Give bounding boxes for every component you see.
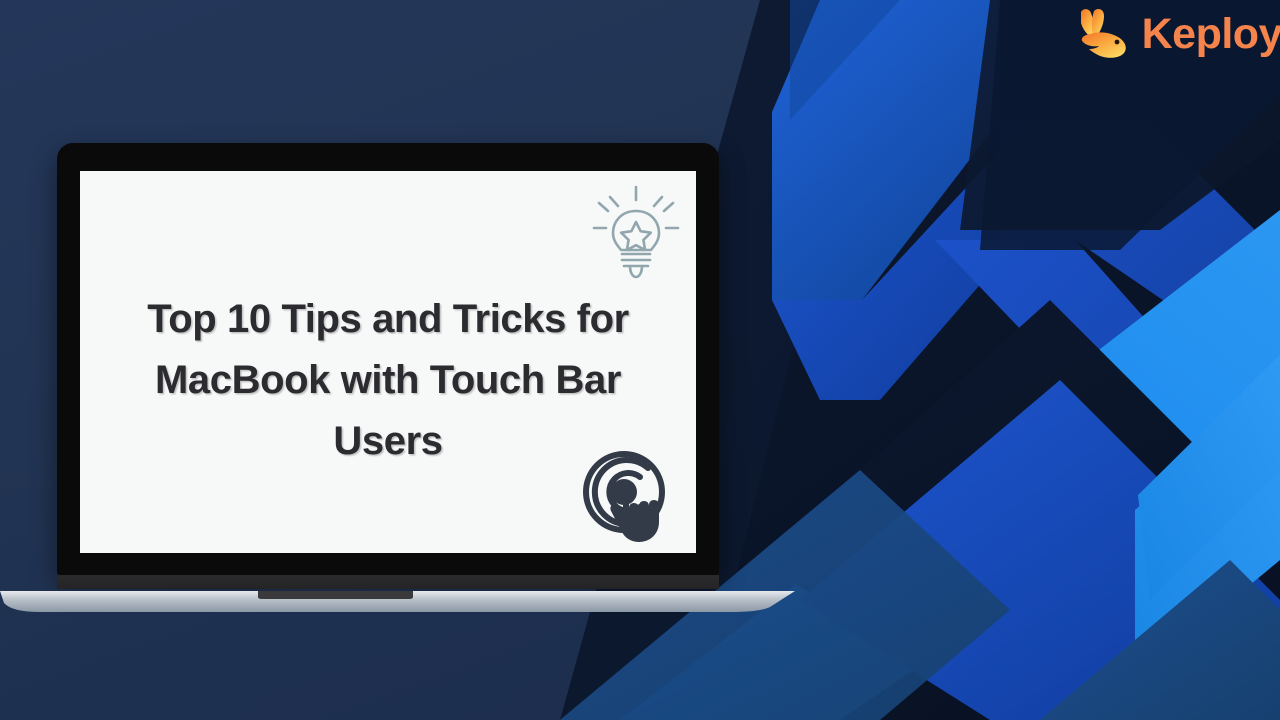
touch-tap-gesture-icon <box>578 444 682 548</box>
keploy-wordmark: Keploy <box>1142 13 1280 56</box>
rabbit-icon <box>1072 6 1136 62</box>
laptop-base <box>0 589 795 613</box>
laptop-lid-bezel: Top 10 Tips and Tricks for MacBook with … <box>57 143 719 575</box>
laptop-hinge-chin <box>57 575 719 589</box>
keploy-logo[interactable]: Keploy <box>1072 6 1278 62</box>
laptop-screen: Top 10 Tips and Tricks for MacBook with … <box>80 171 696 553</box>
cover-image-canvas: Keploy <box>0 0 1280 720</box>
lightbulb-star-icon <box>588 181 684 283</box>
laptop-mockup: Top 10 Tips and Tricks for MacBook with … <box>57 143 719 613</box>
